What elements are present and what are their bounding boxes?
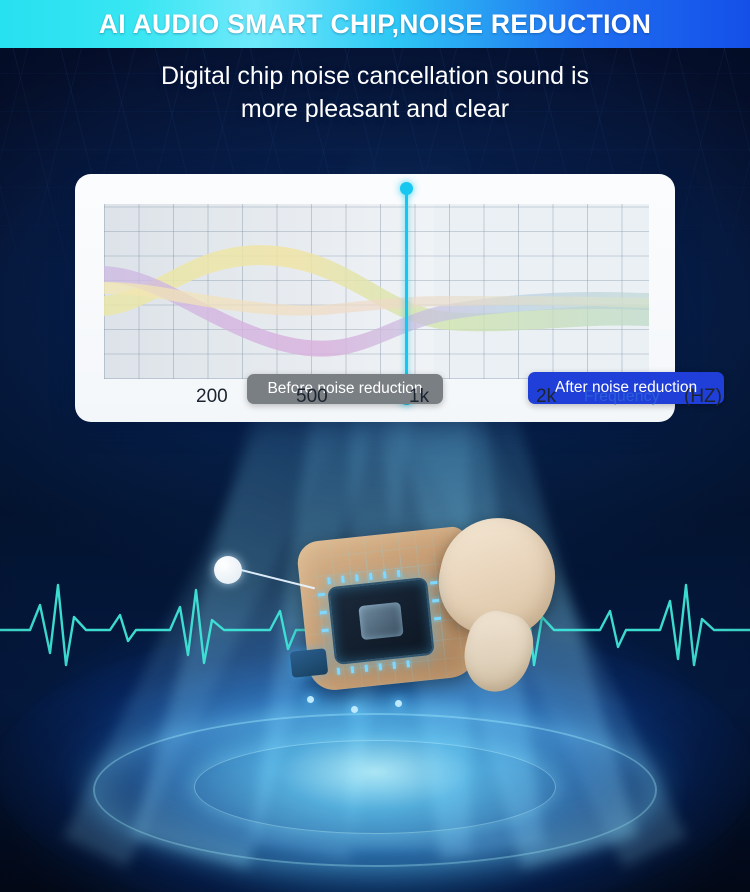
chart-card: Before noise reduction After noise reduc… bbox=[75, 174, 675, 422]
promo-page: AI AUDIO SMART CHIP,NOISE REDUCTION Digi… bbox=[0, 0, 750, 892]
chip-pins bbox=[322, 571, 441, 670]
chart-series-group bbox=[104, 204, 649, 379]
axis-unit-hz: (HZ) bbox=[684, 386, 722, 408]
subtitle-block: Digital chip noise cancellation sound is… bbox=[0, 60, 750, 126]
axis-tick-500: 500 bbox=[296, 386, 328, 408]
subtitle-line-1: Digital chip noise cancellation sound is bbox=[0, 60, 750, 93]
axis-tick-200: 200 bbox=[196, 386, 228, 408]
glow-dot bbox=[307, 696, 314, 703]
glow-dot bbox=[395, 700, 402, 707]
chart-x-axis: 200 500 1k 2k Frequency (HZ) bbox=[104, 386, 704, 410]
callout-dot-icon bbox=[214, 556, 242, 584]
floor-ring-inner bbox=[194, 740, 556, 834]
device-connector bbox=[290, 648, 329, 678]
chart-divider bbox=[405, 188, 408, 398]
axis-label-frequency: Frequency bbox=[584, 388, 660, 406]
banner-title: AI AUDIO SMART CHIP,NOISE REDUCTION bbox=[99, 9, 651, 40]
chart-plot-area bbox=[104, 204, 649, 379]
hearing-aid-device bbox=[255, 500, 615, 730]
chart-divider-cap-top bbox=[400, 182, 413, 195]
smart-chip-icon bbox=[327, 577, 435, 665]
axis-tick-2k: 2k bbox=[536, 386, 556, 408]
glow-dot bbox=[351, 706, 358, 713]
subtitle-line-2: more pleasant and clear bbox=[0, 93, 750, 126]
series-after bbox=[104, 245, 649, 331]
top-banner: AI AUDIO SMART CHIP,NOISE REDUCTION bbox=[0, 0, 750, 48]
axis-tick-1k: 1k bbox=[409, 386, 429, 408]
